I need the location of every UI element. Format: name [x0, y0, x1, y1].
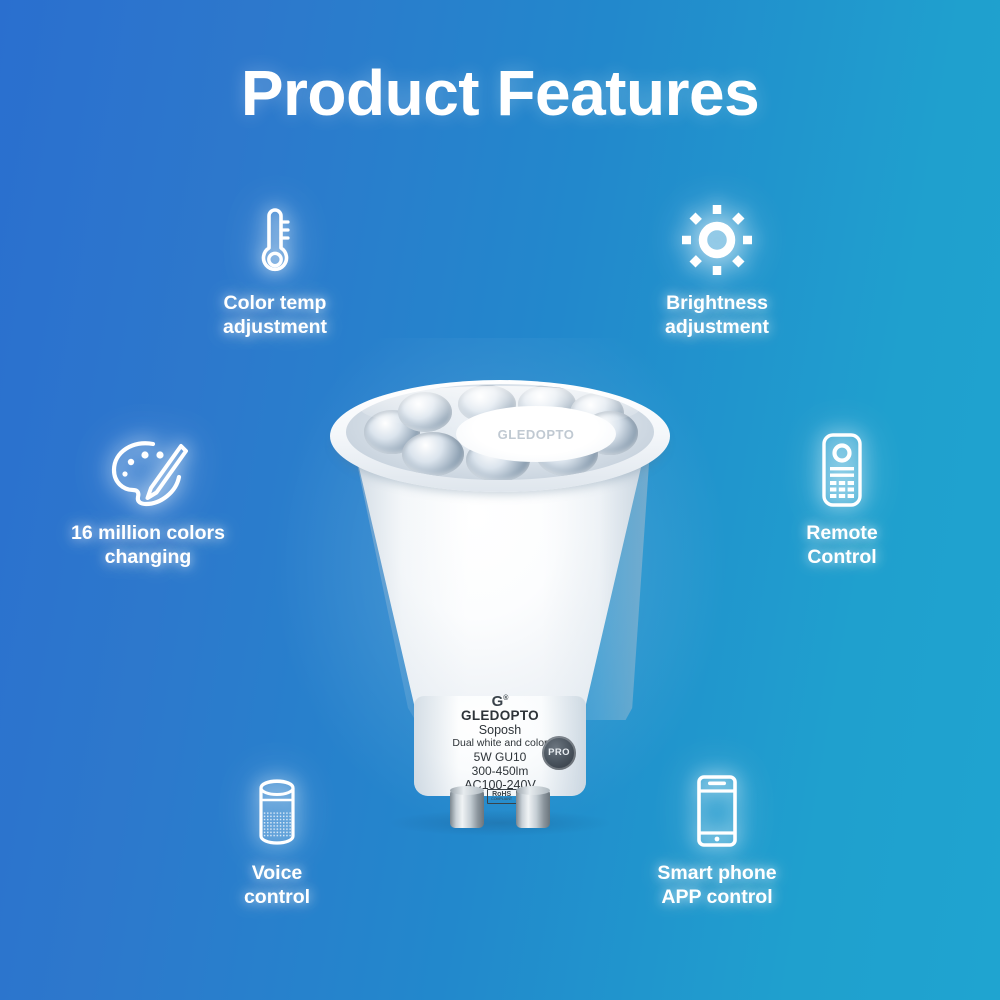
feature-label: Color temp adjustment: [160, 291, 390, 339]
product-label: G® GLEDOPTO Soposh Dual white and color …: [414, 694, 586, 792]
feature-brightness: Brightness adjustment: [602, 200, 832, 339]
feature-color-temp: Color temp adjustment: [160, 200, 390, 339]
remote-control-icon: [727, 430, 957, 508]
lens-center-logo: GLEDOPTO: [456, 406, 616, 462]
thermometer-icon: [160, 200, 390, 278]
product-shadow: [390, 810, 610, 836]
certification-marks: CE RoHS COMPLIANT: [414, 784, 586, 809]
pro-badge: PRO: [542, 736, 576, 770]
feature-label: Brightness adjustment: [602, 291, 832, 339]
feature-label: 16 million colors changing: [33, 521, 263, 569]
bulb-lens-array: GLEDOPTO: [346, 384, 654, 480]
gu10-led-spotlight: GLEDOPTO G® GLEDOPTO Soposh Dual white a…: [310, 358, 690, 828]
feature-remote: Remote Control: [727, 430, 957, 569]
feature-label: Voice control: [162, 861, 392, 909]
page-title: Product Features: [0, 56, 1000, 130]
gu10-pin-right: [516, 790, 550, 828]
feature-colors: 16 million colors changing: [33, 430, 263, 569]
paint-palette-icon: [33, 430, 263, 508]
gu10-pin-left: [450, 790, 484, 828]
feature-label: Remote Control: [727, 521, 957, 569]
feature-label: Smart phone APP control: [602, 861, 832, 909]
sun-brightness-icon: [602, 200, 832, 278]
rohs-mark-icon: RoHS COMPLIANT: [487, 789, 517, 804]
brand-name: GLEDOPTO: [414, 709, 586, 724]
product-features-infographic: Product Features Color temp adjustment: [0, 0, 1000, 1000]
